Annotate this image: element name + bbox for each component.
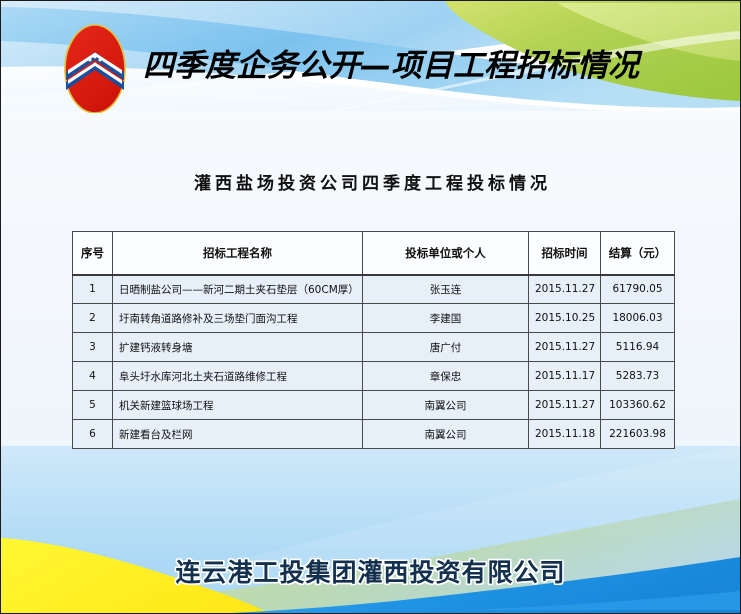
- cell-date: 2015.11.18: [529, 420, 601, 449]
- cell-project: 机关新建篮球场工程: [113, 391, 363, 420]
- cell-project: 扩建钙液转身塘: [113, 333, 363, 362]
- cell-bidder: 唐广付: [363, 333, 529, 362]
- cell-amount: 61790.05: [601, 275, 675, 304]
- cell-project: 新建看台及栏网: [113, 420, 363, 449]
- table-row: 2 圩南转角道路修补及三场垫门面沟工程 李建国 2015.10.25 18006…: [73, 304, 675, 333]
- table-row: 3 扩建钙液转身塘 唐广付 2015.11.27 5116.94: [73, 333, 675, 362]
- table-body: 1 日晒制盐公司——新河二期土夹石垫层（60CM厚） 张玉连 2015.11.2…: [73, 275, 675, 449]
- bid-table: 序号 招标工程名称 投标单位或个人 招标时间 结算（元） 1 日晒制盐公司——新…: [72, 231, 675, 449]
- cell-bidder: 南翼公司: [363, 420, 529, 449]
- content-panel: 灌西盐场投资公司四季度工程投标情况 序号 招标工程名称 投标单位或个人 招标时间…: [2, 113, 739, 446]
- table-row: 5 机关新建篮球场工程 南翼公司 2015.11.27 103360.62: [73, 391, 675, 420]
- slide-page: 四季度企务公开—项目工程招标情况 灌西盐场投资公司四季度工程投标情况 序号 招标…: [0, 0, 741, 614]
- page-title: 四季度企务公开—项目工程招标情况: [143, 43, 663, 89]
- cell-bidder: 章保忠: [363, 362, 529, 391]
- slide-footer: 连云港工投集团灌西投资有限公司: [1, 446, 740, 613]
- cell-date: 2015.11.27: [529, 391, 601, 420]
- company-name: 连云港工投集团灌西投资有限公司: [1, 553, 740, 589]
- company-emblem-icon: [64, 24, 126, 114]
- cell-amount: 18006.03: [601, 304, 675, 333]
- cell-no: 5: [73, 391, 113, 420]
- table-row: 4 阜头圩水库河北土夹石道路维修工程 章保忠 2015.11.17 5283.7…: [73, 362, 675, 391]
- cell-project: 日晒制盐公司——新河二期土夹石垫层（60CM厚）: [113, 275, 363, 304]
- cell-amount: 5116.94: [601, 333, 675, 362]
- column-header-date: 招标时间: [529, 232, 601, 275]
- table-title: 灌西盐场投资公司四季度工程投标情况: [2, 169, 739, 194]
- table-header: 序号 招标工程名称 投标单位或个人 招标时间 结算（元）: [73, 232, 675, 275]
- cell-date: 2015.11.27: [529, 333, 601, 362]
- cell-no: 1: [73, 275, 113, 304]
- cell-project: 圩南转角道路修补及三场垫门面沟工程: [113, 304, 363, 333]
- cell-no: 6: [73, 420, 113, 449]
- cell-bidder: 李建国: [363, 304, 529, 333]
- cell-date: 2015.11.17: [529, 362, 601, 391]
- cell-no: 3: [73, 333, 113, 362]
- column-header-amount: 结算（元）: [601, 232, 675, 275]
- cell-project: 阜头圩水库河北土夹石道路维修工程: [113, 362, 363, 391]
- column-header-no: 序号: [73, 232, 113, 275]
- cell-bidder: 张玉连: [363, 275, 529, 304]
- column-header-project: 招标工程名称: [113, 232, 363, 275]
- table-row: 6 新建看台及栏网 南翼公司 2015.11.18 221603.98: [73, 420, 675, 449]
- cell-bidder: 南翼公司: [363, 391, 529, 420]
- cell-amount: 5283.73: [601, 362, 675, 391]
- cell-no: 4: [73, 362, 113, 391]
- table-row: 1 日晒制盐公司——新河二期土夹石垫层（60CM厚） 张玉连 2015.11.2…: [73, 275, 675, 304]
- slide-header: 四季度企务公开—项目工程招标情况: [1, 1, 740, 119]
- cell-date: 2015.11.27: [529, 275, 601, 304]
- column-header-bidder: 投标单位或个人: [363, 232, 529, 275]
- cell-no: 2: [73, 304, 113, 333]
- cell-amount: 103360.62: [601, 391, 675, 420]
- cell-date: 2015.10.25: [529, 304, 601, 333]
- table-header-row: 序号 招标工程名称 投标单位或个人 招标时间 结算（元）: [73, 232, 675, 275]
- cell-amount: 221603.98: [601, 420, 675, 449]
